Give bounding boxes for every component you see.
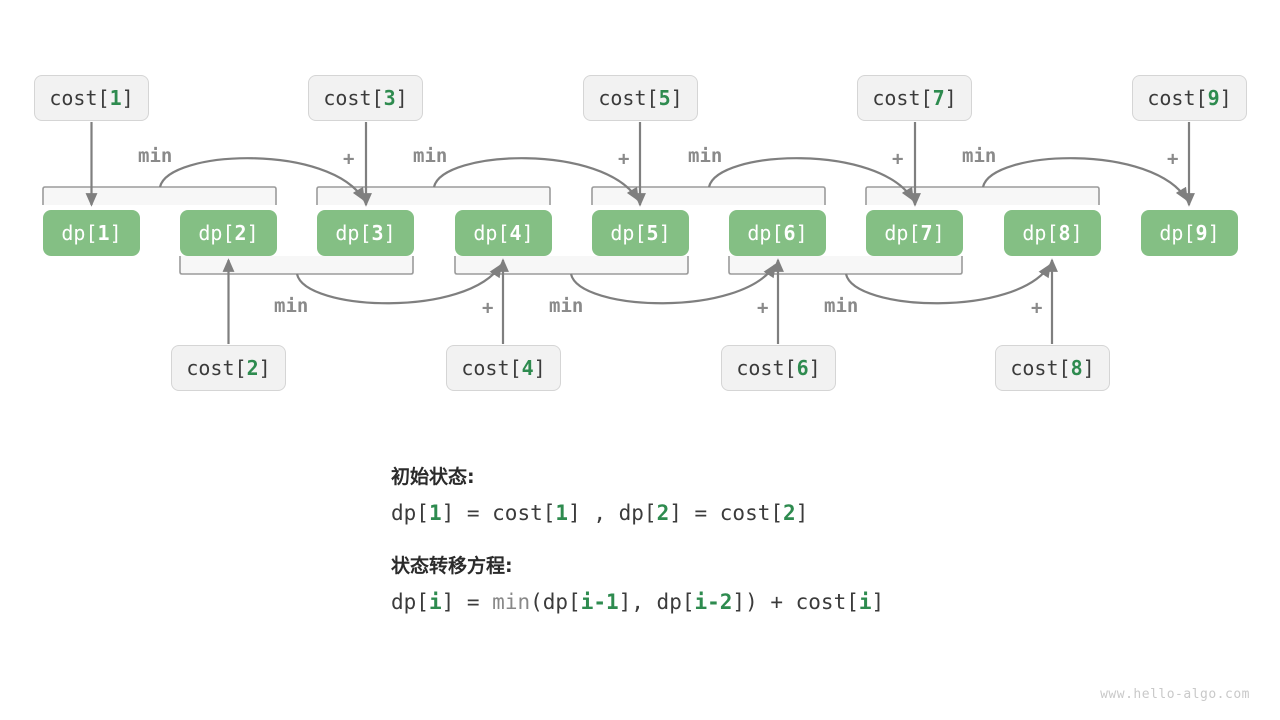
dp-node-3: dp[3] xyxy=(317,210,414,256)
f-part: ], dp[ xyxy=(619,590,695,614)
cost-label: cost xyxy=(323,86,371,110)
bracket-close: ] xyxy=(384,221,396,245)
bracket-open: [ xyxy=(1196,86,1208,110)
top-min-arcs xyxy=(160,158,1187,200)
f-index: 1 xyxy=(555,501,568,525)
bracket-close: ] xyxy=(671,86,683,110)
f-part: (dp[ xyxy=(530,590,581,614)
f-part: ] = xyxy=(442,590,493,614)
op-label-bottom-min-2: min xyxy=(549,295,583,317)
bracket-open: [ xyxy=(497,221,509,245)
cost-top-arrows xyxy=(92,122,1190,205)
cost-node-bottom-6: cost[6] xyxy=(721,345,836,391)
formula-block: 初始状态: dp[1] = cost[1] , dp[2] = cost[2] … xyxy=(391,462,1151,640)
bracket-open: [ xyxy=(372,86,384,110)
dp-index: 7 xyxy=(921,221,933,245)
bottom-brackets xyxy=(180,256,962,274)
bracket-open: [ xyxy=(235,356,247,380)
dp-index: 9 xyxy=(1196,221,1208,245)
dp-index: 1 xyxy=(98,221,110,245)
f-part: ]) + cost[ xyxy=(732,590,858,614)
dp-index: 5 xyxy=(647,221,659,245)
op-label-top-min-3: min xyxy=(688,145,722,167)
cost-index: 1 xyxy=(110,86,122,110)
bracket-open: [ xyxy=(359,221,371,245)
cost-node-top-1: cost[1] xyxy=(34,75,149,121)
op-label-bottom-plus-2: + xyxy=(757,297,768,319)
bracket-close: ] xyxy=(933,221,945,245)
bracket-open: [ xyxy=(1059,356,1071,380)
cost-index: 3 xyxy=(384,86,396,110)
cost-index: 8 xyxy=(1071,356,1083,380)
bracket-open: [ xyxy=(1046,221,1058,245)
dp-label: dp xyxy=(473,221,497,245)
op-label-bottom-min-1: min xyxy=(274,295,308,317)
bracket-close: ] xyxy=(1208,221,1220,245)
op-label-bottom-min-3: min xyxy=(824,295,858,317)
bracket-close: ] xyxy=(122,86,134,110)
f-part: ] = cost[ xyxy=(442,501,556,525)
op-label-top-plus-2: + xyxy=(618,148,629,170)
dp-node-6: dp[6] xyxy=(729,210,826,256)
bottom-min-arcs xyxy=(297,265,1050,303)
cost-node-top-5: cost[5] xyxy=(583,75,698,121)
cost-label: cost xyxy=(1147,86,1195,110)
dp-label: dp xyxy=(198,221,222,245)
f-index: i xyxy=(429,590,442,614)
cost-index: 4 xyxy=(522,356,534,380)
f-index: 2 xyxy=(783,501,796,525)
f-function: min xyxy=(492,590,530,614)
f-part: ] xyxy=(872,590,885,614)
cost-label: cost xyxy=(736,356,784,380)
initial-state-title: 初始状态: xyxy=(391,462,1151,489)
cost-label: cost xyxy=(872,86,920,110)
bracket-close: ] xyxy=(259,356,271,380)
dp-index: 6 xyxy=(784,221,796,245)
dp-node-7: dp[7] xyxy=(866,210,963,256)
transition-equation-title: 状态转移方程: xyxy=(391,551,1151,578)
cost-index: 7 xyxy=(933,86,945,110)
op-label-top-min-1: min xyxy=(138,145,172,167)
dp-index: 3 xyxy=(372,221,384,245)
dp-node-1: dp[1] xyxy=(43,210,140,256)
cost-index: 5 xyxy=(659,86,671,110)
cost-label: cost xyxy=(461,356,509,380)
bracket-close: ] xyxy=(1220,86,1232,110)
bracket-close: ] xyxy=(396,86,408,110)
dp-label: dp xyxy=(335,221,359,245)
f-part: ] = cost[ xyxy=(669,501,783,525)
bracket-open: [ xyxy=(510,356,522,380)
bracket-open: [ xyxy=(1183,221,1195,245)
op-label-bottom-plus-3: + xyxy=(1031,297,1042,319)
cost-bottom-arrows xyxy=(229,260,1053,344)
dp-label: dp xyxy=(884,221,908,245)
dp-label: dp xyxy=(1022,221,1046,245)
f-index: i xyxy=(859,590,872,614)
f-index: i-1 xyxy=(581,590,619,614)
f-index: i-2 xyxy=(694,590,732,614)
bracket-close: ] xyxy=(522,221,534,245)
dp-node-9: dp[9] xyxy=(1141,210,1238,256)
cost-node-bottom-4: cost[4] xyxy=(446,345,561,391)
cost-node-bottom-8: cost[8] xyxy=(995,345,1110,391)
bracket-close: ] xyxy=(247,221,259,245)
f-part: ] , dp[ xyxy=(568,501,657,525)
dp-node-5: dp[5] xyxy=(592,210,689,256)
f-index: 1 xyxy=(429,501,442,525)
bracket-open: [ xyxy=(98,86,110,110)
transition-equation-formula: dp[i] = min(dp[i-1], dp[i-2]) + cost[i] xyxy=(391,590,1151,614)
dp-label: dp xyxy=(1159,221,1183,245)
cost-label: cost xyxy=(1010,356,1058,380)
bracket-close: ] xyxy=(534,356,546,380)
bracket-close: ] xyxy=(945,86,957,110)
bracket-close: ] xyxy=(659,221,671,245)
bracket-open: [ xyxy=(785,356,797,380)
cost-label: cost xyxy=(598,86,646,110)
op-label-top-plus-1: + xyxy=(343,148,354,170)
dp-label: dp xyxy=(61,221,85,245)
initial-state-formula: dp[1] = cost[1] , dp[2] = cost[2] xyxy=(391,501,1151,525)
op-label-top-min-4: min xyxy=(962,145,996,167)
watermark: www.hello-algo.com xyxy=(1100,687,1250,702)
cost-node-bottom-2: cost[2] xyxy=(171,345,286,391)
bracket-open: [ xyxy=(908,221,920,245)
cost-index: 6 xyxy=(797,356,809,380)
bracket-close: ] xyxy=(809,356,821,380)
dp-label: dp xyxy=(610,221,634,245)
bracket-open: [ xyxy=(771,221,783,245)
bracket-open: [ xyxy=(634,221,646,245)
dp-node-2: dp[2] xyxy=(180,210,277,256)
dp-index: 2 xyxy=(235,221,247,245)
op-label-bottom-plus-1: + xyxy=(482,297,493,319)
op-label-top-plus-3: + xyxy=(892,148,903,170)
bracket-open: [ xyxy=(85,221,97,245)
dp-index: 4 xyxy=(510,221,522,245)
cost-node-top-9: cost[9] xyxy=(1132,75,1247,121)
dp-index: 8 xyxy=(1059,221,1071,245)
dp-node-8: dp[8] xyxy=(1004,210,1101,256)
bracket-open: [ xyxy=(647,86,659,110)
f-part: dp[ xyxy=(391,501,429,525)
dp-label: dp xyxy=(747,221,771,245)
cost-node-top-3: cost[3] xyxy=(308,75,423,121)
op-label-top-plus-4: + xyxy=(1167,148,1178,170)
diagram-canvas: cost[1] cost[3] cost[5] cost[7] cost[9] … xyxy=(0,0,1280,720)
cost-node-top-7: cost[7] xyxy=(857,75,972,121)
bracket-close: ] xyxy=(796,221,808,245)
f-part: dp[ xyxy=(391,590,429,614)
cost-index: 2 xyxy=(247,356,259,380)
op-label-top-min-2: min xyxy=(413,145,447,167)
f-part: ] xyxy=(796,501,809,525)
bracket-close: ] xyxy=(1083,356,1095,380)
bracket-close: ] xyxy=(1071,221,1083,245)
top-brackets xyxy=(43,187,1099,205)
bracket-open: [ xyxy=(222,221,234,245)
dp-node-4: dp[4] xyxy=(455,210,552,256)
cost-label: cost xyxy=(186,356,234,380)
cost-label: cost xyxy=(49,86,97,110)
cost-index: 9 xyxy=(1208,86,1220,110)
bracket-close: ] xyxy=(110,221,122,245)
f-index: 2 xyxy=(657,501,670,525)
bracket-open: [ xyxy=(921,86,933,110)
